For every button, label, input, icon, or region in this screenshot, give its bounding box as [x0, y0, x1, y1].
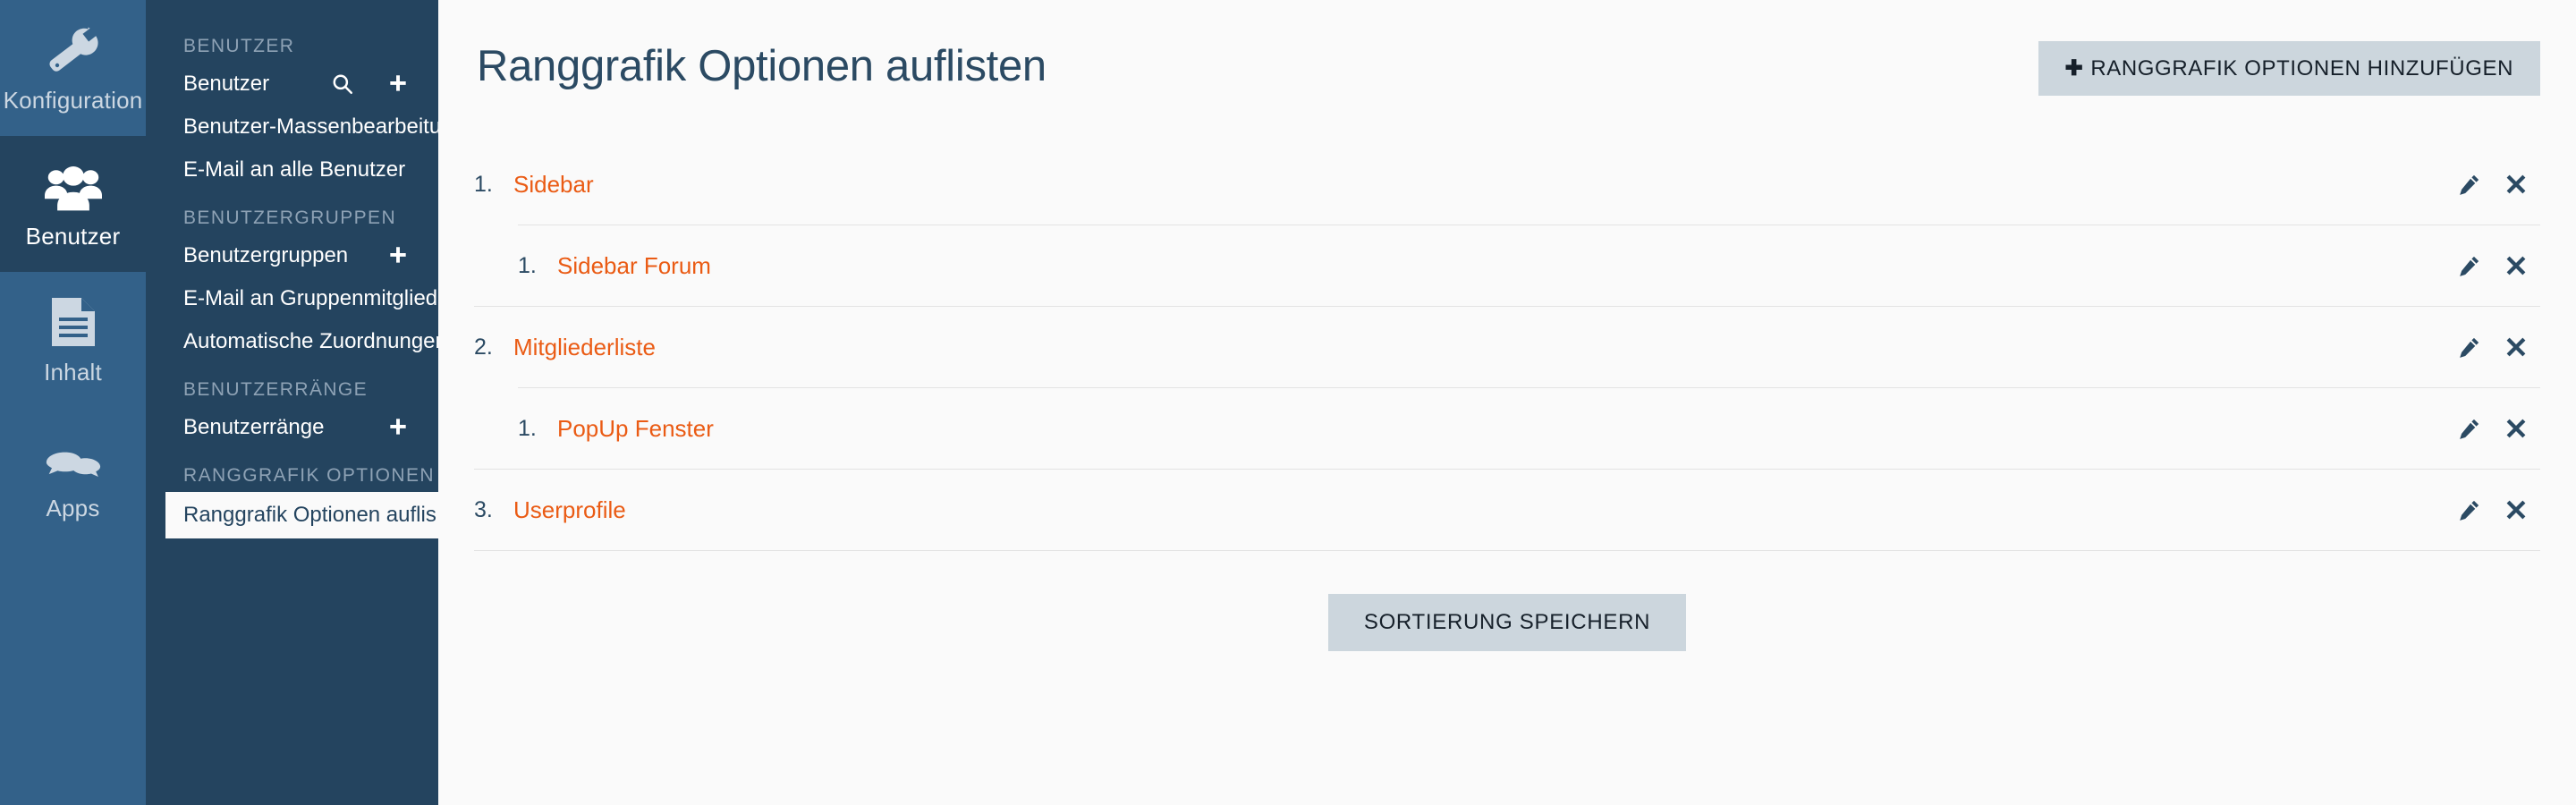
nav-item-email-an-alle-benutzer[interactable]: E-Mail an alle Benutzer [146, 148, 438, 191]
nav-item-benutzergruppen[interactable]: Benutzergruppen [146, 234, 438, 277]
nav-item-label: E-Mail an Gruppenmitglieder [183, 286, 456, 311]
pencil-icon[interactable] [2458, 498, 2481, 521]
add-ranggrafik-option-button[interactable]: ✚RANGGRAFIK OPTIONEN HINZUFÜGEN [2038, 41, 2540, 96]
primary-icon-rail: Konfiguration Benutzer [0, 0, 146, 805]
row-separator [474, 550, 2540, 551]
row-title-link[interactable]: Mitgliederliste [513, 334, 2458, 361]
row-index: 1. [474, 172, 513, 198]
pencil-icon[interactable] [2458, 417, 2481, 440]
row-actions [2458, 254, 2540, 277]
nav-item-label: Benutzergruppen [183, 243, 383, 268]
nav-item-label: E-Mail an alle Benutzer [183, 157, 413, 182]
row-index: 1. [518, 416, 557, 442]
nav-item-label: Ranggrafik Optionen auflis... [183, 503, 454, 528]
close-icon[interactable] [2504, 173, 2528, 196]
list-item[interactable]: 1. PopUp Fenster [474, 388, 2540, 469]
list-item[interactable]: 2. Mitgliederliste [474, 307, 2540, 387]
rail-item-konfiguration[interactable]: Konfiguration [0, 0, 146, 136]
list-item[interactable]: 1. Sidebar [474, 144, 2540, 225]
row-actions [2458, 335, 2540, 359]
page-title: Ranggrafik Optionen auflisten [474, 41, 1046, 91]
rail-item-label: Konfiguration [4, 89, 143, 112]
pencil-icon[interactable] [2458, 254, 2481, 277]
nav-item-automatische-zuordnungen[interactable]: Automatische Zuordnungen [146, 320, 438, 363]
row-index: 2. [474, 335, 513, 360]
rail-item-label: Benutzer [26, 225, 121, 248]
row-actions [2458, 173, 2540, 196]
rail-item-label: Inhalt [44, 360, 102, 384]
add-icon[interactable] [383, 69, 413, 99]
users-icon [45, 160, 102, 212]
nav-item-label: Benutzerränge [183, 415, 383, 440]
nav-group-title-ranggrafik-optionen: RANGGRAFIK OPTIONEN [146, 449, 438, 492]
admin-console: Konfiguration Benutzer [0, 0, 2576, 805]
pencil-icon[interactable] [2458, 173, 2481, 196]
sortable-options-list: 1. Sidebar 1. Sidebar Forum [474, 144, 2540, 551]
nav-item-ranggrafik-optionen-auflisten[interactable]: Ranggrafik Optionen auflis... [165, 492, 438, 538]
row-title-link[interactable]: Sidebar Forum [557, 252, 2458, 280]
nav-item-label: Automatische Zuordnungen [183, 329, 447, 354]
nav-group-title-benutzergruppen: BENUTZERGRUPPEN [146, 191, 438, 234]
nav-group-title-benutzerraenge: BENUTZERRÄNGE [146, 363, 438, 406]
chat-bubbles-icon [45, 432, 102, 484]
document-icon [45, 296, 102, 348]
save-order-button[interactable]: SORTIERUNG SPEICHERN [1328, 594, 1686, 651]
close-icon[interactable] [2504, 335, 2528, 359]
row-index: 1. [518, 253, 557, 279]
add-button-label: RANGGRAFIK OPTIONEN HINZUFÜGEN [2090, 56, 2513, 80]
close-icon[interactable] [2504, 417, 2528, 440]
rail-item-apps[interactable]: Apps [0, 408, 146, 544]
close-icon[interactable] [2504, 254, 2528, 277]
nav-item-benutzerraenge[interactable]: Benutzerränge [146, 406, 438, 449]
search-icon[interactable] [327, 69, 358, 99]
close-icon[interactable] [2504, 498, 2528, 521]
rail-item-benutzer[interactable]: Benutzer [0, 136, 146, 272]
rail-item-label: Apps [46, 496, 99, 520]
rail-item-inhalt[interactable]: Inhalt [0, 272, 146, 408]
nav-item-email-an-gruppenmitglieder[interactable]: E-Mail an Gruppenmitglieder [146, 277, 438, 320]
row-actions [2458, 498, 2540, 521]
row-index: 3. [474, 497, 513, 523]
nav-group-title-benutzer: BENUTZER [146, 20, 438, 63]
row-title-link[interactable]: Userprofile [513, 496, 2458, 524]
nav-item-label: Benutzer-Massenbearbeitung [183, 114, 465, 140]
nav-item-benutzer-massenbearbeitung[interactable]: Benutzer-Massenbearbeitung [146, 106, 438, 148]
main-content: Ranggrafik Optionen auflisten ✚RANGGRAFI… [438, 0, 2576, 805]
secondary-nav: BENUTZER Benutzer Benutzer-Massenbearbei… [146, 0, 438, 805]
wrench-icon [45, 24, 102, 76]
pencil-icon[interactable] [2458, 335, 2481, 359]
row-title-link[interactable]: PopUp Fenster [557, 415, 2458, 443]
nav-item-benutzer[interactable]: Benutzer [146, 63, 438, 106]
row-title-link[interactable]: Sidebar [513, 171, 2458, 199]
list-item[interactable]: 3. Userprofile [474, 470, 2540, 550]
page-header: Ranggrafik Optionen auflisten ✚RANGGRAFI… [474, 0, 2540, 96]
row-actions [2458, 417, 2540, 440]
add-icon[interactable] [383, 241, 413, 271]
save-order-wrap: SORTIERUNG SPEICHERN [474, 594, 2540, 651]
add-icon[interactable] [383, 412, 413, 443]
nav-item-label: Benutzer [183, 72, 327, 97]
plus-icon: ✚ [2065, 56, 2084, 80]
list-item[interactable]: 1. Sidebar Forum [474, 225, 2540, 306]
